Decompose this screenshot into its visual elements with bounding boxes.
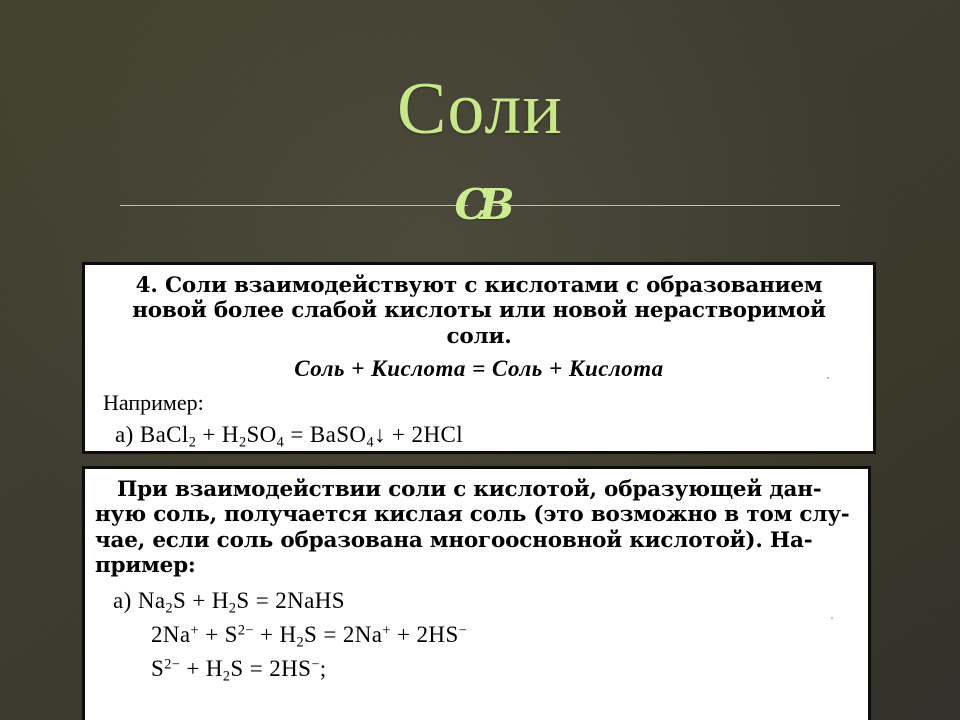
acid-salt-statement-line-3: чае, если соль образована многоосновной … <box>95 528 858 553</box>
equation-body: BaCl2 + H2SO4 = BaSO4↓ + 2HCl <box>140 422 463 447</box>
equation-marker: а) <box>115 422 134 447</box>
general-reaction-formula: Соль + Кислота = Соль + Кислота <box>97 356 861 382</box>
equation-bacl2: а) BaCl2 + H2SO4 = BaSO4↓ + 2HCl <box>115 422 861 448</box>
presentation-slide: Соли CB 4. Соли взаимодействуют с кислот… <box>0 0 960 720</box>
rule-statement-line-2: новой более слабой кислоты или новой нер… <box>97 298 861 349</box>
example-label: Например: <box>103 390 861 416</box>
divider-rule-left <box>120 205 468 206</box>
equation-body: S2− + H2S = 2HS−; <box>151 656 327 681</box>
equation-body: Na2S + H2S = 2NaHS <box>138 588 345 613</box>
divider-rule-right <box>492 205 840 206</box>
page-title: Соли <box>0 72 960 146</box>
equation-ionic-full: 2Na+ + S2− + H2S = 2Na+ + 2HS− <box>151 622 858 648</box>
acid-salt-statement-line-2: ную соль, получается кислая соль (это во… <box>95 502 858 527</box>
title-divider: CB <box>120 186 840 226</box>
content-box-first-rule: 4. Соли взаимодействуют с кислотами с об… <box>82 262 876 454</box>
content-box-acid-salt-rule: При взаимодействии соли с кислотой, обра… <box>82 466 871 720</box>
equation-body: 2Na+ + S2− + H2S = 2Na+ + 2HS− <box>151 622 467 647</box>
rule-statement-line-1: 4. Соли взаимодействуют с кислотами с об… <box>97 273 861 298</box>
equation-ionic-net: S2− + H2S = 2HS−; <box>151 656 858 682</box>
acid-salt-statement-line-1: При взаимодействии соли с кислотой, обра… <box>95 477 858 502</box>
equation-na2s: а) Na2S + H2S = 2NaHS <box>113 588 858 614</box>
acid-salt-statement-line-4: пример: <box>95 553 858 578</box>
flourish-ornament-icon: CB <box>455 184 506 226</box>
scan-speck <box>827 377 829 379</box>
scan-speck <box>831 617 833 619</box>
equation-marker: а) <box>113 588 132 613</box>
